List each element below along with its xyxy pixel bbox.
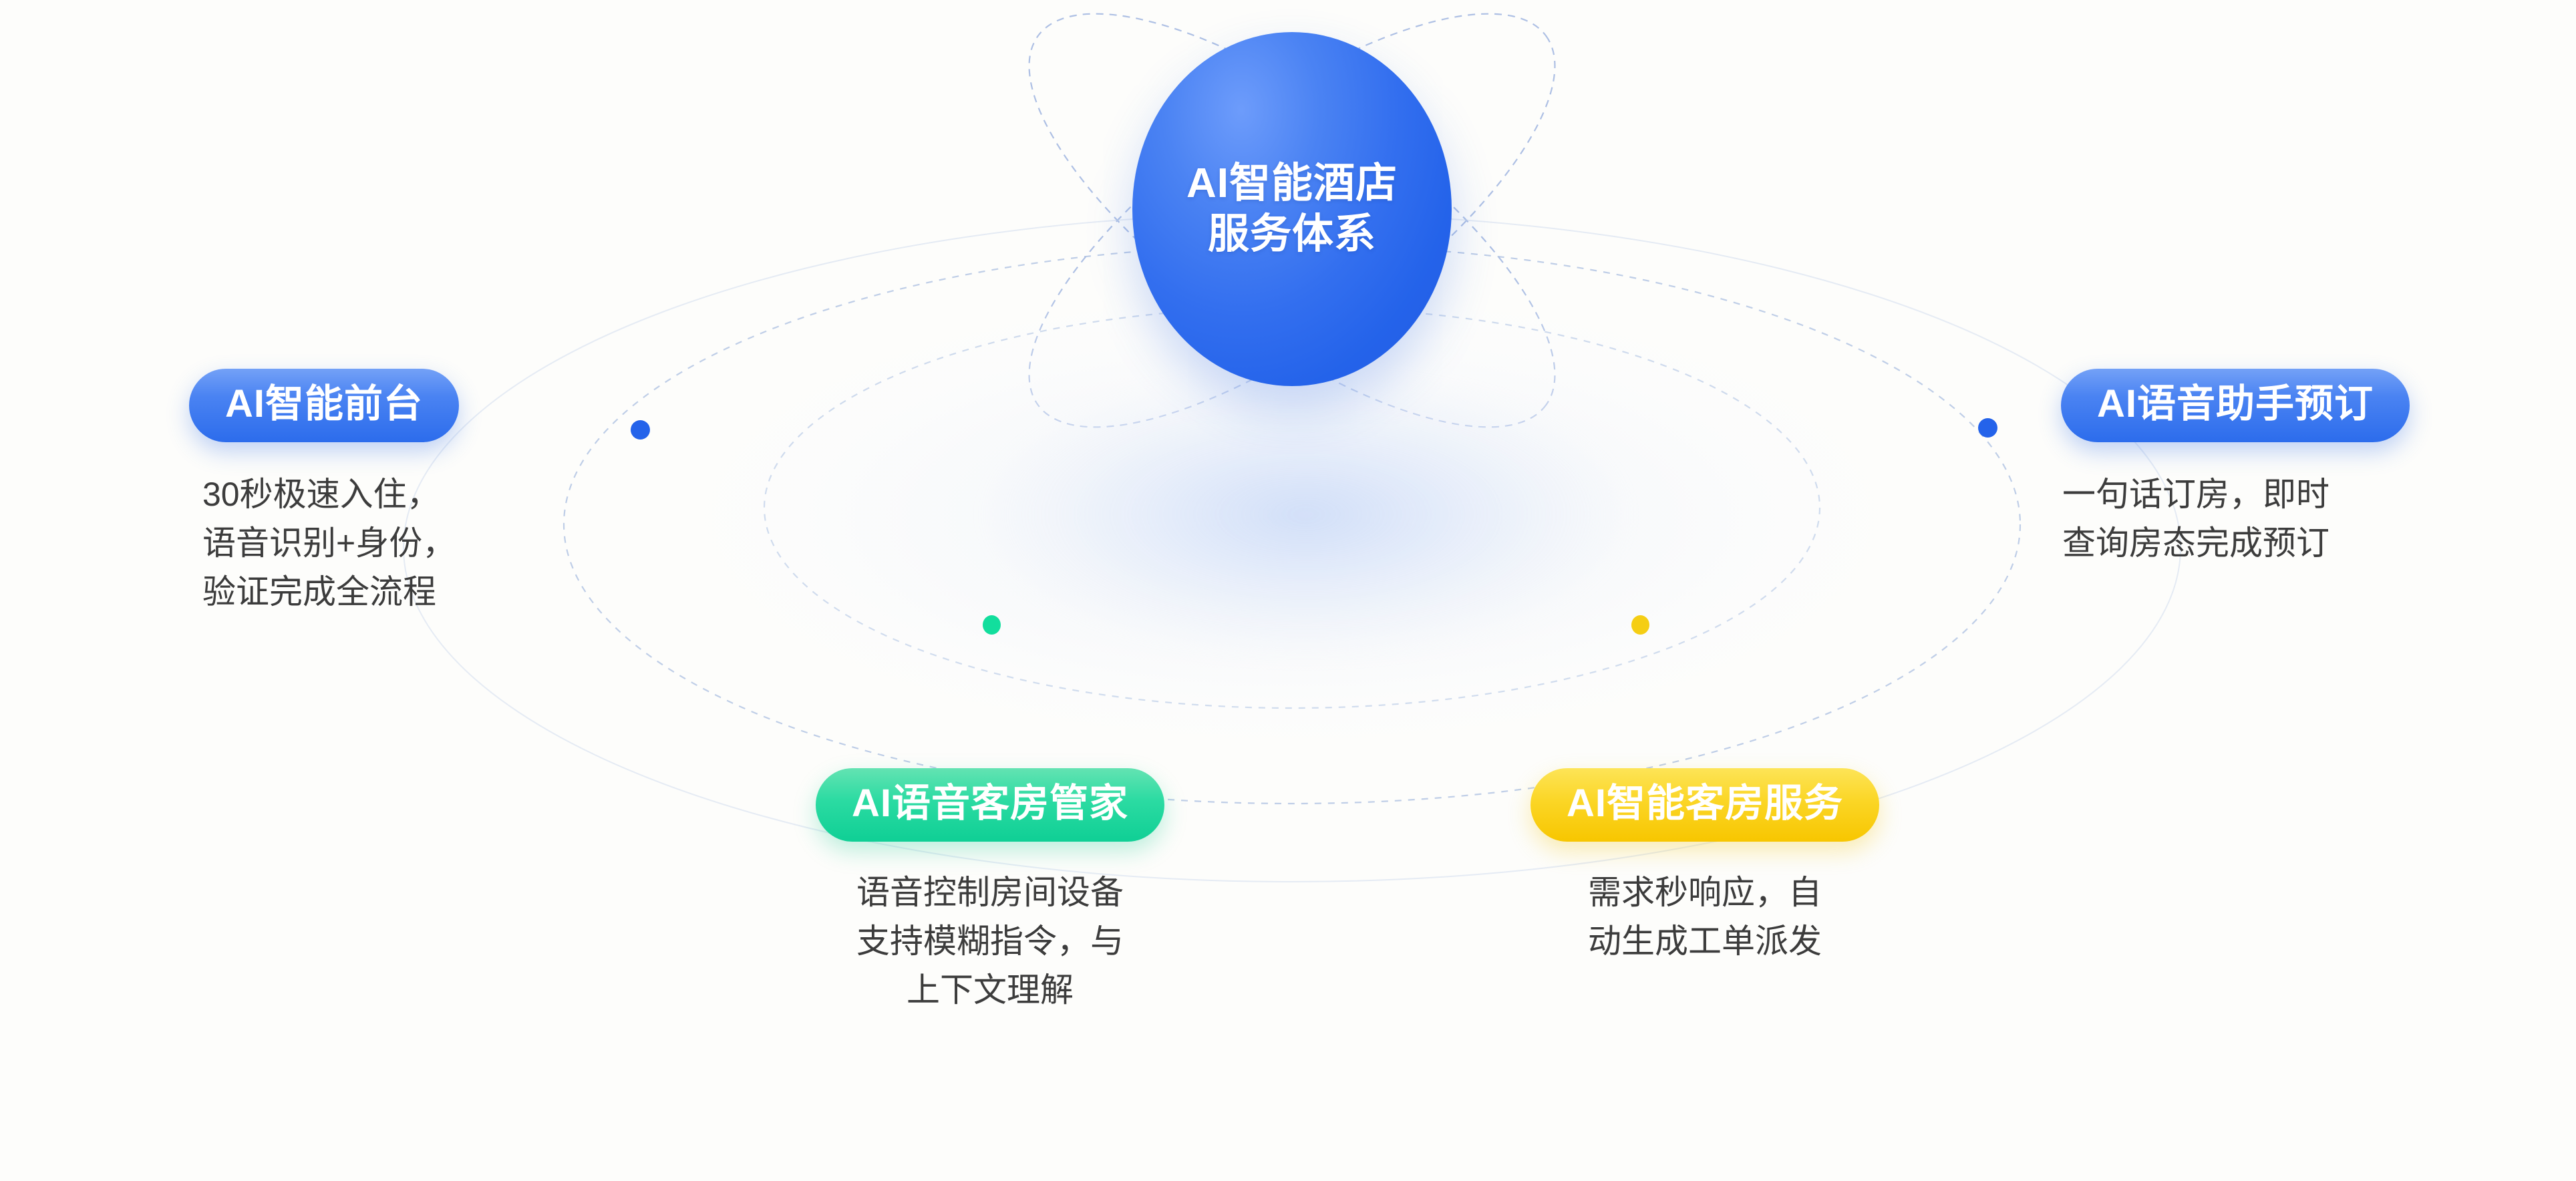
central-sphere-title-line1: AI智能酒店 [1186, 158, 1398, 209]
infographic-canvas: AI智能酒店 服务体系 AI智能前台 30秒极速入住， 语音识别+身份， 验证完… [0, 0, 2576, 1181]
node-room-service[interactable]: AI智能客房服务 需求秒响应，自 动生成工单派发 [1491, 768, 1919, 966]
node-room-butler[interactable]: AI语音客房管家 语音控制房间设备 支持模糊指令，与 上下文理解 [750, 768, 1231, 1015]
node-voice-booking-label: AI语音助手预订 [2097, 385, 2374, 424]
node-room-butler-pill[interactable]: AI语音客房管家 [816, 768, 1164, 842]
node-room-service-label: AI智能客房服务 [1567, 784, 1843, 823]
connector-dot-room-butler [983, 615, 1001, 635]
node-front-desk-description: 30秒极速入住， 语音识别+身份， 验证完成全流程 [202, 470, 657, 617]
node-voice-booking[interactable]: AI语音助手预订 一句话订房，即时 查询房态完成预订 [2061, 369, 2542, 568]
central-sphere: AI智能酒店 服务体系 [1132, 32, 1452, 386]
node-voice-booking-description: 一句话订房，即时 查询房态完成预订 [2062, 470, 2542, 568]
central-sphere-title-line2: 服务体系 [1208, 209, 1376, 260]
node-room-butler-label: AI语音客房管家 [852, 784, 1128, 823]
node-front-desk[interactable]: AI智能前台 30秒极速入住， 语音识别+身份， 验证完成全流程 [189, 369, 657, 617]
node-room-butler-description: 语音控制房间设备 支持模糊指令，与 上下文理解 [750, 868, 1231, 1015]
node-front-desk-label: AI智能前台 [225, 385, 423, 424]
connector-dot-room-service [1631, 615, 1649, 635]
node-front-desk-pill[interactable]: AI智能前台 [189, 369, 459, 442]
node-room-service-description: 需求秒响应，自 动生成工单派发 [1491, 868, 1919, 966]
connector-dot-voice-booking [1978, 418, 1997, 438]
node-room-service-pill[interactable]: AI智能客房服务 [1531, 768, 1879, 842]
node-voice-booking-pill[interactable]: AI语音助手预订 [2061, 369, 2410, 442]
